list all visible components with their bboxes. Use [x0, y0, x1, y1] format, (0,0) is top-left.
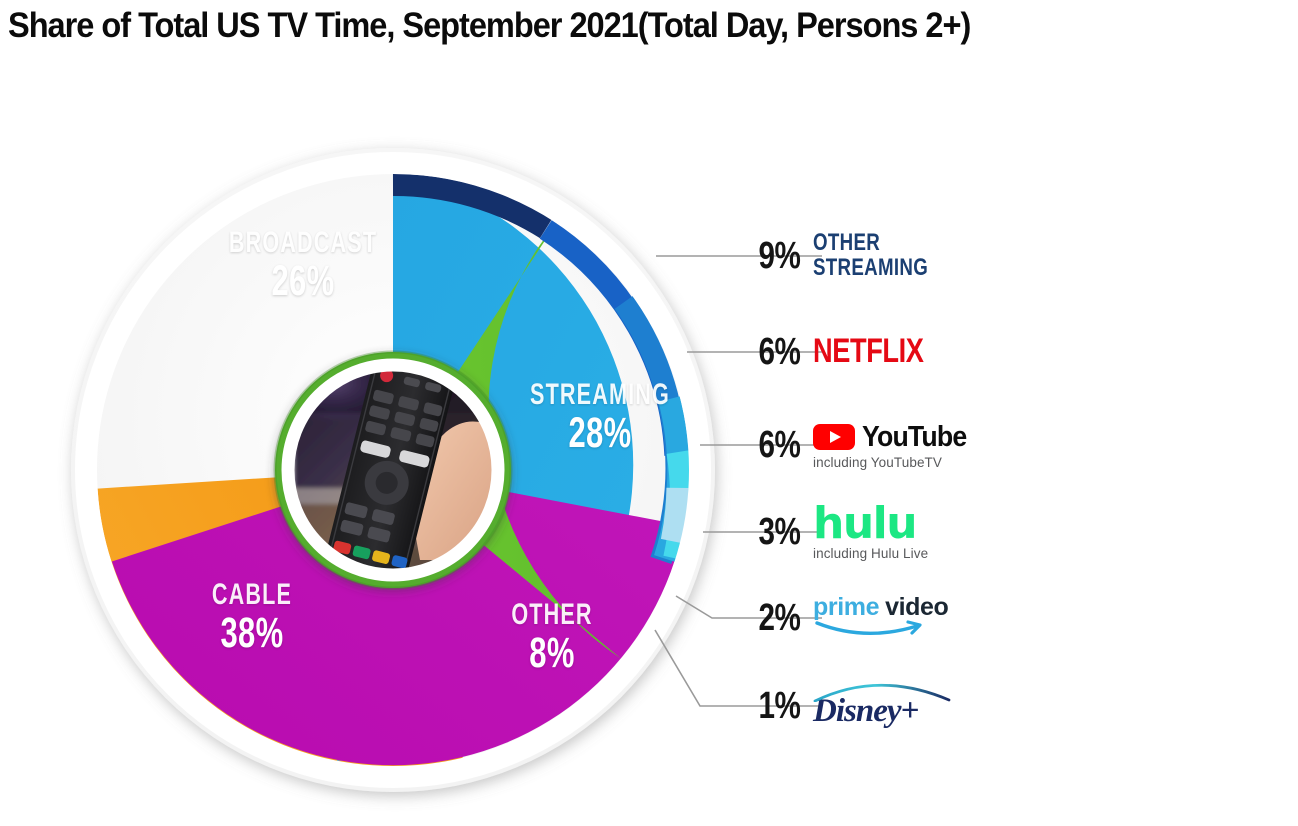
legend-item-prime-video[interactable]: 2% prime video — [735, 586, 948, 650]
legend-pct-disney-plus: 1% — [752, 685, 813, 728]
legend-item-other-streaming[interactable]: 9% OTHER STREAMING — [735, 224, 961, 288]
legend-sub-youtube: including YouTubeTV — [813, 455, 975, 470]
slice-label-other-name: OTHER — [466, 600, 639, 630]
legend-item-hulu[interactable]: 3% hulu including Hulu Live — [735, 500, 928, 564]
legend-brand-youtube: YouTube — [862, 421, 966, 454]
legend-item-youtube[interactable]: 6% YouTube including YouTubeTV — [735, 413, 975, 477]
legend-item-netflix[interactable]: 6% NETFLIX — [735, 320, 951, 384]
slice-label-broadcast-value: 26% — [217, 260, 390, 303]
legend-brand-hulu: hulu — [813, 503, 928, 545]
legend-pct-netflix: 6% — [752, 331, 813, 374]
youtube-logo-icon: YouTube including YouTubeTV — [813, 421, 975, 470]
legend-brand-prime: prime — [813, 593, 879, 622]
legend-item-disney-plus[interactable]: 1% Disney+ — [735, 674, 918, 738]
netflix-wordmark-icon: NETFLIX — [813, 334, 951, 369]
youtube-play-icon — [813, 422, 855, 452]
slice-label-streaming-name: STREAMING — [514, 380, 687, 410]
ring-disney-plus[interactable] — [672, 488, 678, 541]
prime-video-logo-icon: prime video — [813, 593, 948, 643]
disney-arc-icon — [809, 678, 955, 702]
other-streaming-text-icon: OTHER STREAMING — [813, 231, 961, 280]
slice-label-streaming-value: 28% — [514, 412, 687, 455]
legend-brand-video: video — [885, 593, 948, 622]
legend-pct-youtube: 6% — [752, 424, 813, 467]
legend-sub-hulu: including Hulu Live — [813, 546, 928, 561]
legend-pct-prime-video: 2% — [752, 597, 813, 640]
slice-label-broadcast: BROADCAST 26% — [183, 228, 423, 303]
slice-label-broadcast-name: BROADCAST — [217, 228, 390, 258]
slice-label-other: OTHER 8% — [432, 600, 672, 675]
hulu-wordmark-icon: hulu including Hulu Live — [813, 503, 928, 561]
slice-label-cable: CABLE 38% — [132, 580, 372, 655]
slice-label-other-value: 8% — [466, 632, 639, 675]
slice-label-streaming: STREAMING 28% — [480, 380, 720, 455]
legend-brand-netflix: NETFLIX — [813, 334, 924, 369]
slice-label-cable-name: CABLE — [166, 580, 339, 610]
legend-brand-other-streaming-line1: OTHER — [813, 231, 928, 256]
legend-brand-other-streaming-line2: STREAMING — [813, 256, 928, 281]
chart-legend: 9% OTHER STREAMING 6% NETFLIX 6% — [735, 60, 1295, 826]
chart-page: Share of Total US TV Time, September 202… — [0, 0, 1298, 826]
legend-pct-hulu: 3% — [752, 511, 813, 554]
legend-pct-other-streaming: 9% — [752, 235, 813, 278]
amazon-smile-arrow-icon — [813, 620, 931, 638]
page-title: Share of Total US TV Time, September 202… — [8, 6, 1208, 46]
slice-label-cable-value: 38% — [166, 612, 339, 655]
disney-plus-logo-icon: Disney+ — [813, 684, 918, 728]
